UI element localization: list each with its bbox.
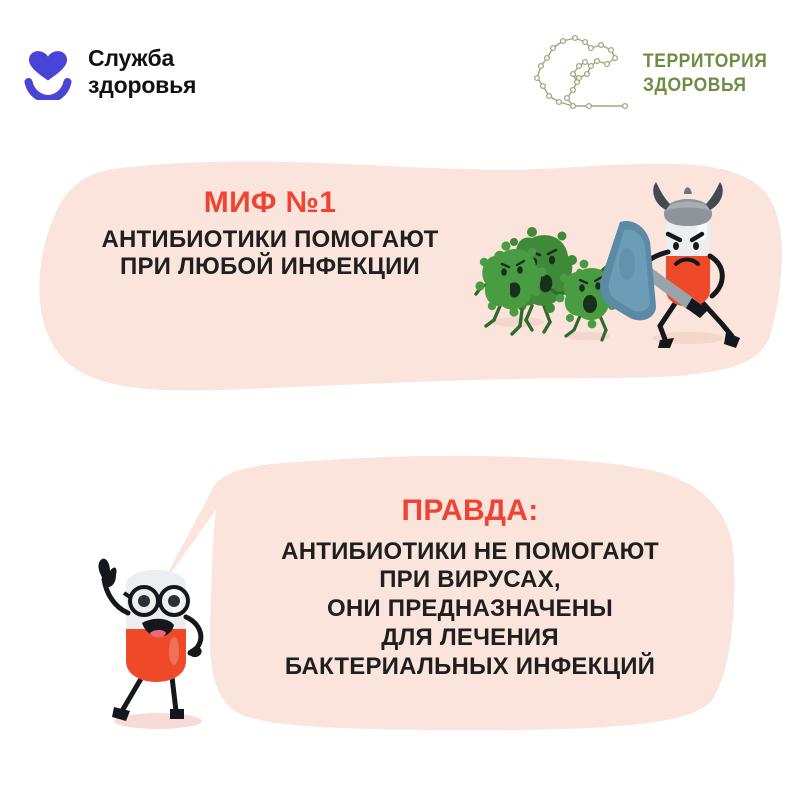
- friendly-pill-with-glasses-illustration: [80, 545, 250, 745]
- infographic-poster: Служба здоровья: [0, 0, 800, 800]
- truth-headline: ПРАВДА:: [240, 494, 700, 528]
- truth-body: АНТИБИОТИКИ НЕ ПОМОГАЮТ ПРИ ВИРУСАХ, ОНИ…: [240, 538, 700, 682]
- truth-bubble-text: ПРАВДА: АНТИБИОТИКИ НЕ ПОМОГАЮТ ПРИ ВИРУ…: [240, 494, 700, 682]
